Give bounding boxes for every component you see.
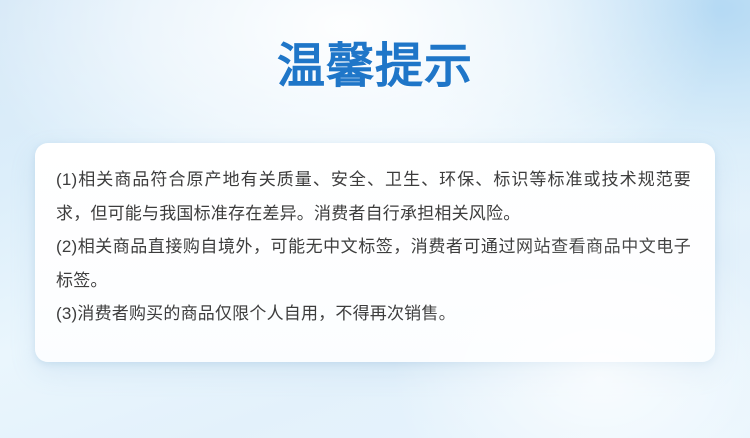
notice-card: (1)相关商品符合原产地有关质量、安全、卫生、环保、标识等标准或技术规范要求，但… [35,143,715,362]
notice-item-3: (3)消费者购买的商品仅限个人自用，不得再次销售。 [56,297,691,331]
notice-item-1: (1)相关商品符合原产地有关质量、安全、卫生、环保、标识等标准或技术规范要求，但… [56,163,691,230]
notice-page: 温馨提示 (1)相关商品符合原产地有关质量、安全、卫生、环保、标识等标准或技术规… [0,0,750,438]
notice-list: (1)相关商品符合原产地有关质量、安全、卫生、环保、标识等标准或技术规范要求，但… [56,163,691,331]
page-title: 温馨提示 [0,38,750,96]
notice-item-2: (2)相关商品直接购自境外，可能无中文标签，消费者可通过网站查看商品中文电子标签… [56,230,691,297]
